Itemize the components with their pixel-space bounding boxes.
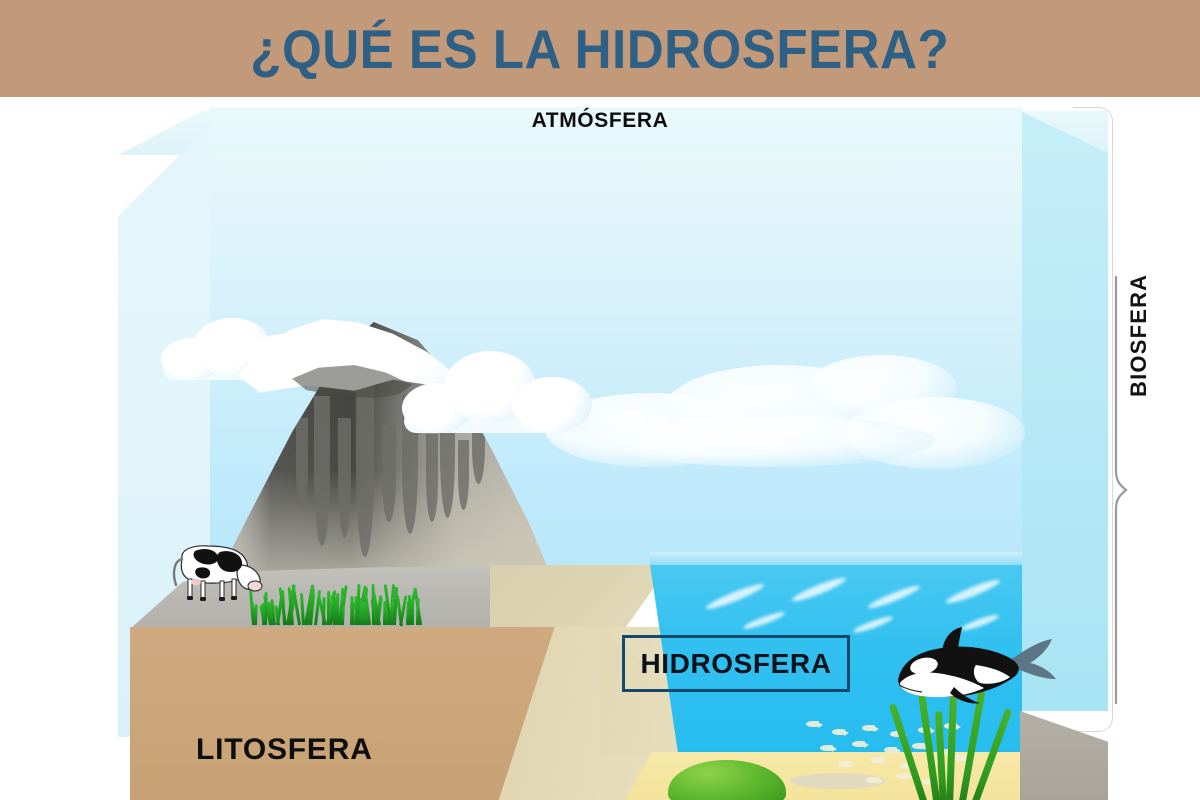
fish-icon xyxy=(870,757,883,763)
fish-icon xyxy=(852,741,865,747)
rock-streak xyxy=(338,418,351,538)
label-litosfera: LITOSFERA xyxy=(196,733,373,767)
cow-icon xyxy=(168,535,266,605)
fish-icon xyxy=(896,773,909,779)
lithosphere-block xyxy=(130,627,570,800)
fish-icon xyxy=(820,745,833,751)
rock-streak xyxy=(314,396,330,546)
fish-icon xyxy=(832,729,845,735)
soil-ground-surface xyxy=(490,565,670,631)
fish-icon xyxy=(866,777,879,783)
fish-icon xyxy=(862,725,875,731)
orca-whale-icon xyxy=(880,625,1070,717)
grass-blade xyxy=(416,598,420,625)
fish-icon xyxy=(806,721,819,727)
rock-streak xyxy=(382,426,396,522)
fish-icon xyxy=(838,761,851,767)
rock-streak xyxy=(458,440,469,510)
label-biosfera: BIOSFERA xyxy=(1126,274,1152,397)
slide-header: ¿QUÉ ES LA HIDROSFERA? xyxy=(0,0,1200,97)
grass-blade xyxy=(322,597,326,625)
rock-streak xyxy=(426,434,438,522)
grass-blade xyxy=(300,593,305,625)
grass-blade xyxy=(355,596,358,625)
grass-icon xyxy=(252,579,422,625)
rock-streak xyxy=(356,382,374,557)
earth-spheres-diagram: ATMÓSFERA LITOSFERA CORTEZA MANTO HIDROS… xyxy=(0,97,1200,800)
label-atmosfera: ATMÓSFERA xyxy=(0,109,1200,133)
page-title: ¿QUÉ ES LA HIDROSFERA? xyxy=(251,22,950,77)
rock-streak xyxy=(296,418,308,510)
water-surface xyxy=(650,552,1022,566)
label-hidrosfera-box: HIDROSFERA xyxy=(622,635,850,692)
box-right-face xyxy=(1020,111,1108,711)
fish-icon xyxy=(884,747,897,753)
rock-streak xyxy=(440,388,455,518)
rock-streak xyxy=(402,394,418,534)
slide-page: ¿QUÉ ES LA HIDROSFERA? xyxy=(0,0,1200,800)
label-hidrosfera: HIDROSFERA xyxy=(640,648,831,680)
